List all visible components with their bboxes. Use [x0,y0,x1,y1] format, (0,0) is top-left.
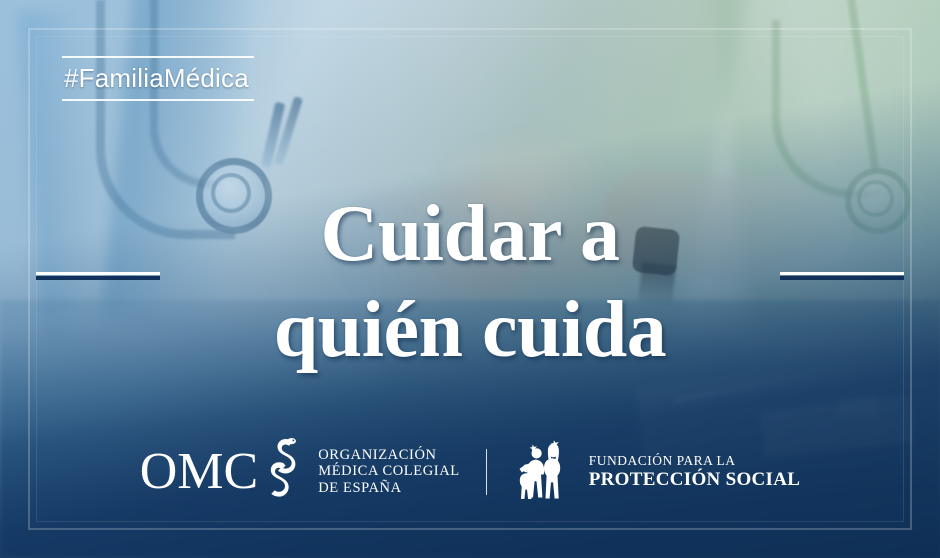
hashtag-rule-bottom [62,99,254,101]
foundation-line-1: FUNDACIÓN PARA LA [589,453,801,469]
asclepius-rod-icon [266,437,300,504]
omc-subtitle-line-1: ORGANIZACIÓN [318,447,460,464]
page-title: Cuidar a quién cuida [0,186,940,378]
omc-subtitle-line-2: MÉDICA COLEGIAL [318,463,460,480]
campaign-banner: #FamiliaMédica Cuidar a quién cuida OMC … [0,0,940,558]
title-line-1: Cuidar a [0,186,940,282]
decorative-rule-right [780,272,904,275]
logo-divider [486,449,487,495]
foundation-text: FUNDACIÓN PARA LA PROTECCIÓN SOCIAL [589,453,801,491]
decorative-rule-left [36,272,160,275]
omc-subtitle-line-3: DE ESPAÑA [318,480,460,497]
campaign-hashtag: #FamiliaMédica [62,56,254,101]
foundation-logo[interactable]: FUNDACIÓN PARA LA PROTECCIÓN SOCIAL [513,439,801,504]
omc-subtitle: ORGANIZACIÓN MÉDICA COLEGIAL DE ESPAÑA [318,447,460,497]
omc-acronym: OMC [140,446,258,498]
foundation-line-2: PROTECCIÓN SOCIAL [589,469,801,491]
logo-bar: OMC ORGANIZACIÓN MÉDICA COLEGIAL DE ESPA… [0,439,940,504]
hashtag-label: #FamiliaMédica [62,58,254,99]
title-line-2: quién cuida [0,282,940,378]
omc-logo[interactable]: OMC ORGANIZACIÓN MÉDICA COLEGIAL DE ESPA… [140,439,460,504]
family-figures-icon [513,439,575,504]
